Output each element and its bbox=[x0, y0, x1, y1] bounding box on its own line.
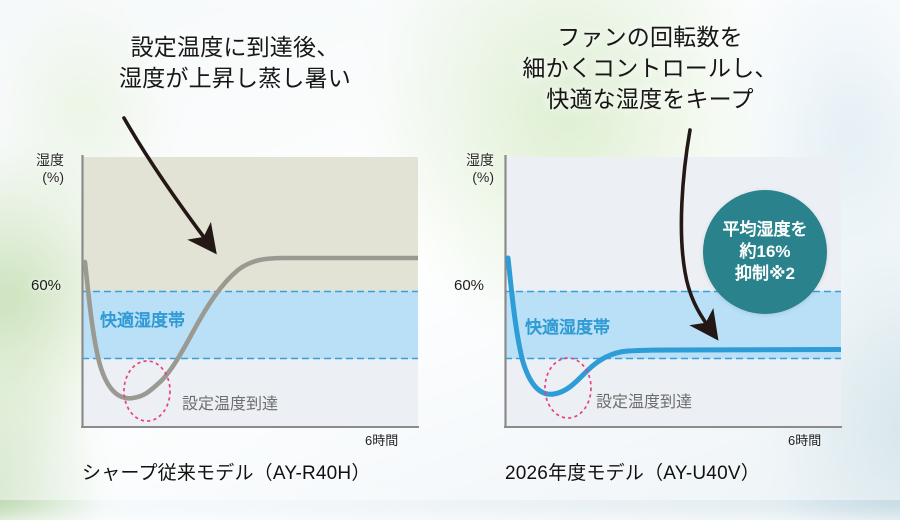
y-tick-60-left: 60% bbox=[31, 277, 61, 294]
comfort-band-label-left: 快適湿度帯 bbox=[100, 306, 185, 331]
model-caption-right: 2026年度モデル（AY-U40V） bbox=[505, 458, 760, 485]
y-axis-label-right: 湿度 (%) bbox=[436, 152, 494, 185]
y-axis-label-right-line2: (%) bbox=[436, 169, 494, 186]
chart-right-svg bbox=[450, 0, 900, 500]
y-axis-label-left-line2: (%) bbox=[14, 169, 64, 186]
badge-line2: 約16% bbox=[739, 241, 790, 263]
y-tick-60-right: 60% bbox=[454, 277, 484, 294]
x-axis-time-label-left: 6時間 bbox=[365, 430, 398, 449]
y-axis-label-left-line1: 湿度 bbox=[14, 152, 64, 169]
badge-line3: 抑制※2 bbox=[735, 263, 795, 285]
upper-region-fill bbox=[82, 157, 418, 291]
y-axis-label-left: 湿度 (%) bbox=[14, 152, 64, 185]
y-axis-label-right-line1: 湿度 bbox=[436, 152, 494, 169]
chart-left: 湿度 (%) 60% 快適湿度帯 設定温度到達 6時間 シャープ従来モデル（AY… bbox=[0, 0, 450, 500]
comfort-band-label-right: 快適湿度帯 bbox=[525, 313, 610, 338]
badge-line1: 平均湿度を bbox=[723, 219, 808, 241]
chart-left-svg bbox=[0, 0, 450, 500]
model-caption-left: シャープ従来モデル（AY-R40H） bbox=[82, 458, 371, 485]
x-axis-time-label-right: 6時間 bbox=[788, 430, 821, 449]
average-humidity-badge: 平均湿度を 約16% 抑制※2 bbox=[703, 190, 827, 314]
chart-right: 湿度 (%) 60% 快適湿度帯 設定温度到達 6時間 2026年度モデル（AY… bbox=[450, 0, 900, 500]
setpoint-reached-label-left: 設定温度到達 bbox=[182, 390, 278, 414]
setpoint-reached-label-right: 設定温度到達 bbox=[596, 388, 692, 412]
